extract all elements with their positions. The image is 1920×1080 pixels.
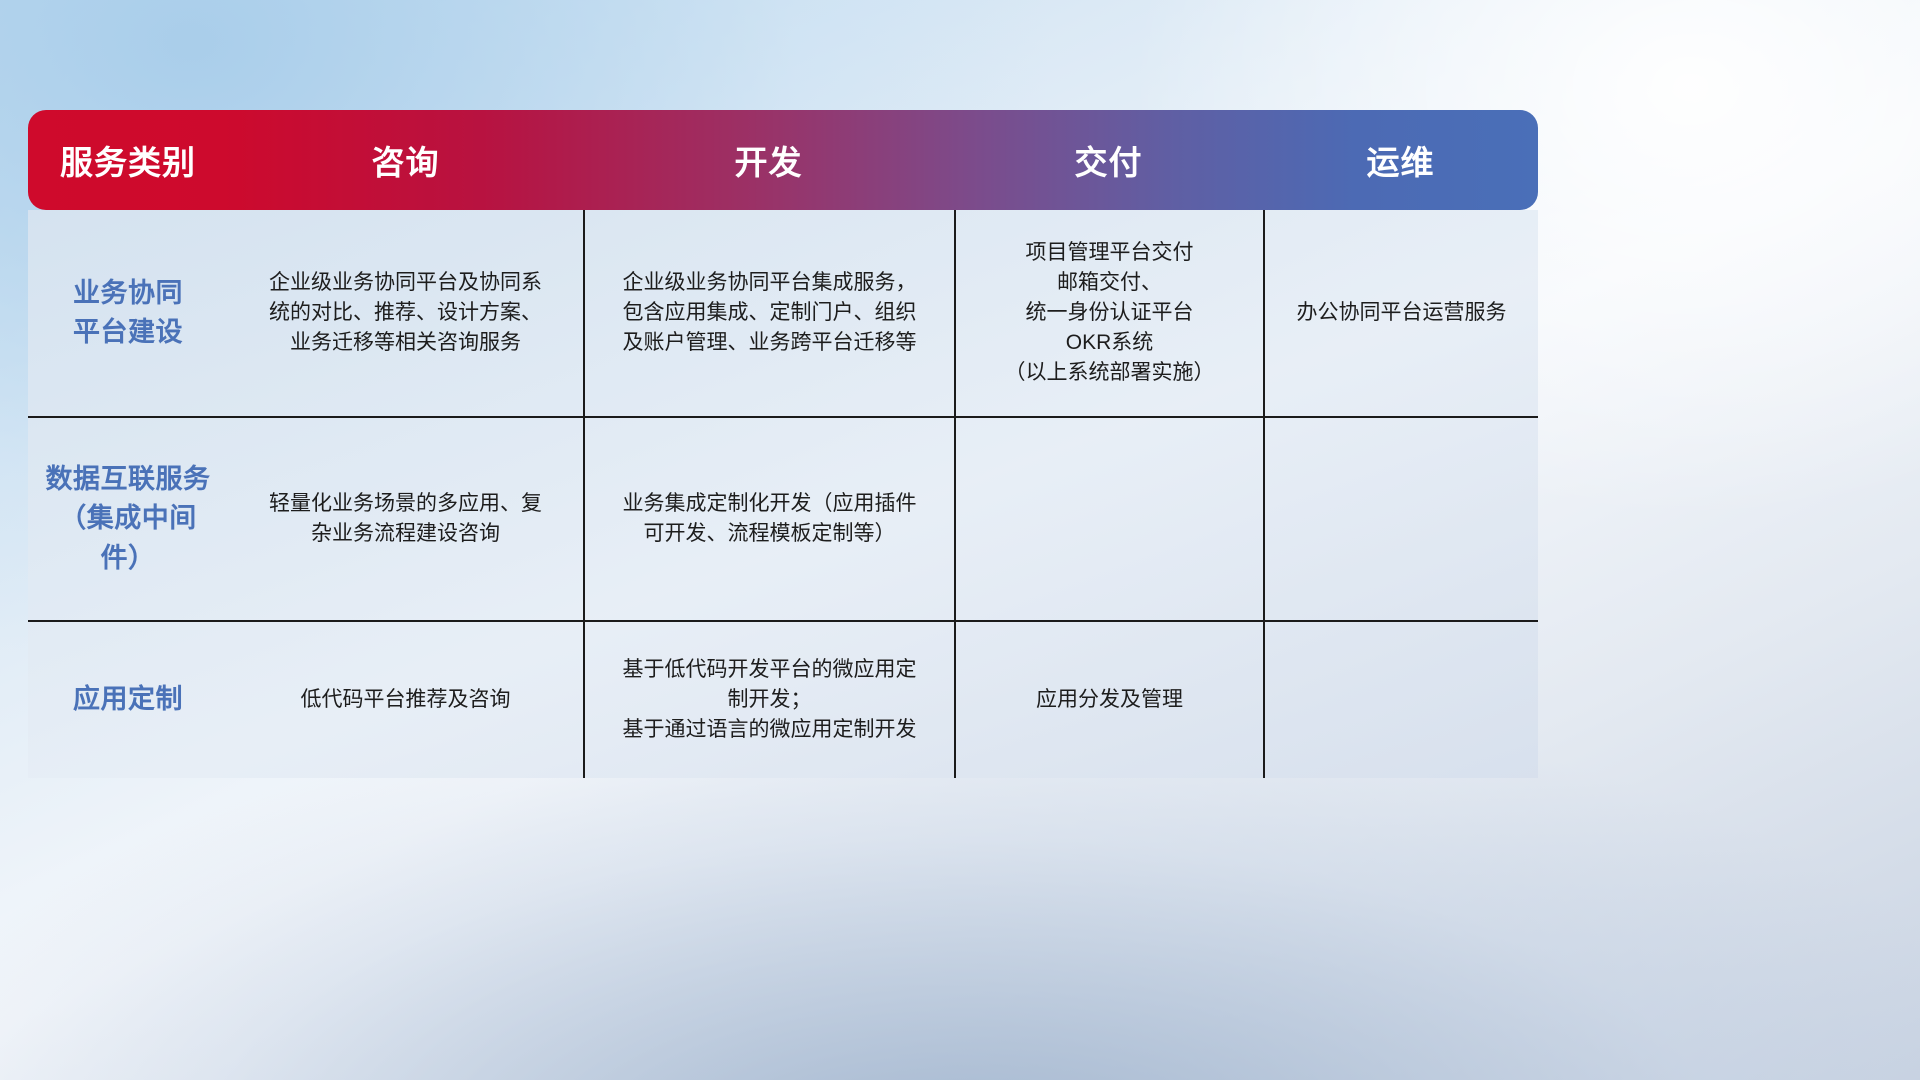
cell-delivery-row3: 应用分发及管理 — [954, 622, 1263, 778]
cell-consulting-row3: 低代码平台推荐及咨询 — [228, 622, 583, 778]
cell-operations-row3 — [1263, 622, 1538, 778]
header-cell-consulting: 咨询 — [228, 110, 583, 210]
cell-operations-row2 — [1263, 418, 1538, 620]
cell-operations-row1: 办公协同平台运营服务 — [1263, 210, 1538, 416]
table-header-row: 服务类别 咨询 开发 交付 运维 — [28, 110, 1538, 210]
slide-canvas: 服务类别 咨询 开发 交付 运维 业务协同 平台建设 企业级业务协同平台及协同系… — [0, 0, 1920, 1080]
table-row: 业务协同 平台建设 企业级业务协同平台及协同系 统的对比、推荐、设计方案、 业务… — [28, 210, 1538, 418]
header-cell-development: 开发 — [583, 110, 954, 210]
row-label-app-customization: 应用定制 — [28, 622, 228, 778]
cell-development-row2: 业务集成定制化开发（应用插件 可开发、流程模板定制等） — [583, 418, 954, 620]
services-matrix-table: 服务类别 咨询 开发 交付 运维 业务协同 平台建设 企业级业务协同平台及协同系… — [28, 110, 1538, 778]
header-cell-delivery: 交付 — [954, 110, 1263, 210]
table-row: 数据互联服务 （集成中间件） 轻量化业务场景的多应用、复 杂业务流程建设咨询 业… — [28, 418, 1538, 622]
cell-delivery-row1: 项目管理平台交付 邮箱交付、 统一身份认证平台 OKR系统 （以上系统部署实施） — [954, 210, 1263, 416]
header-cell-category: 服务类别 — [28, 110, 228, 210]
row-label-data-integration: 数据互联服务 （集成中间件） — [28, 418, 228, 620]
table-row: 应用定制 低代码平台推荐及咨询 基于低代码开发平台的微应用定 制开发； 基于通过… — [28, 622, 1538, 778]
cell-delivery-row2 — [954, 418, 1263, 620]
cell-development-row3: 基于低代码开发平台的微应用定 制开发； 基于通过语言的微应用定制开发 — [583, 622, 954, 778]
cell-development-row1: 企业级业务协同平台集成服务， 包含应用集成、定制门户、组织 及账户管理、业务跨平… — [583, 210, 954, 416]
table-body: 业务协同 平台建设 企业级业务协同平台及协同系 统的对比、推荐、设计方案、 业务… — [28, 210, 1538, 778]
header-cell-operations: 运维 — [1263, 110, 1538, 210]
row-label-business-collaboration: 业务协同 平台建设 — [28, 210, 228, 416]
cell-consulting-row1: 企业级业务协同平台及协同系 统的对比、推荐、设计方案、 业务迁移等相关咨询服务 — [228, 210, 583, 416]
cell-consulting-row2: 轻量化业务场景的多应用、复 杂业务流程建设咨询 — [228, 418, 583, 620]
